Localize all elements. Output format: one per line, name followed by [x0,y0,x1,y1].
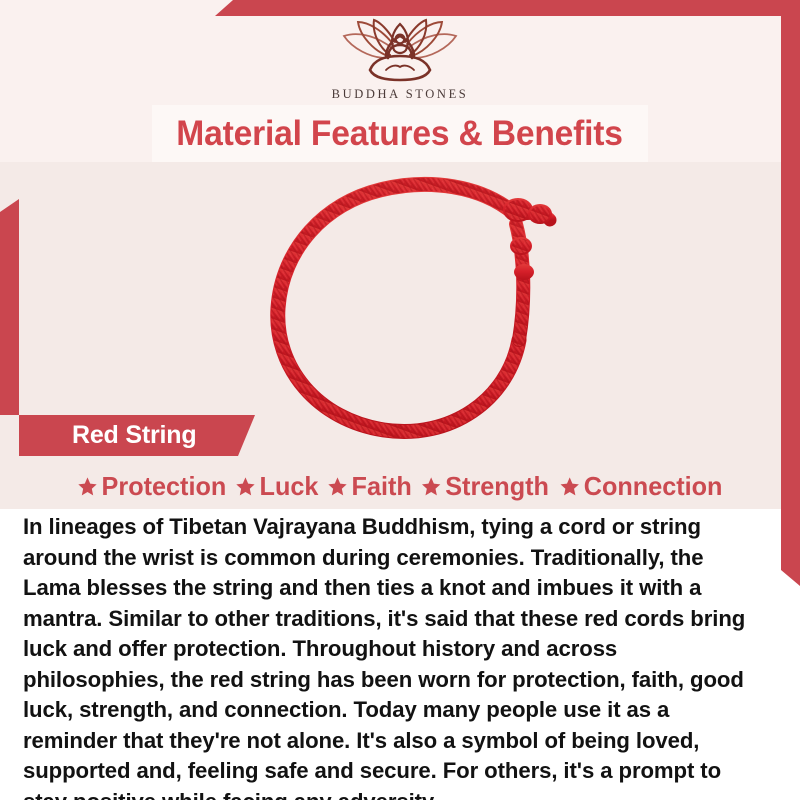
product-name-banner: Red String [19,415,255,456]
star-icon [77,476,97,497]
benefit-item-faith: Faith [327,471,411,502]
left-red-strip [0,199,19,415]
lotus-meditation-icon [330,18,470,84]
benefit-item-protection: Protection [77,471,226,502]
benefit-label: Protection [101,471,226,502]
product-image [268,168,568,444]
star-icon [421,476,441,497]
benefits-row: Protection Luck Faith Strength Connectio… [19,466,781,506]
benefit-label: Faith [352,471,412,502]
page-title: Material Features & Benefits [177,114,624,154]
benefit-label: Luck [260,471,319,502]
infographic-page: BUDDHA STONES Material Features & Benefi… [0,0,800,800]
star-icon [236,476,256,497]
benefit-label: Connection [584,471,723,502]
brand-logo: BUDDHA STONES [0,18,800,102]
star-icon [327,476,347,497]
benefit-item-luck: Luck [236,471,319,502]
brand-name: BUDDHA STONES [332,87,469,102]
star-icon [560,476,580,497]
benefit-item-strength: Strength [421,471,549,502]
top-red-ribbon [215,0,800,16]
title-plate: Material Features & Benefits [152,105,648,162]
benefit-item-connection: Connection [560,471,723,502]
product-name-label: Red String [72,421,196,450]
description-paragraph: In lineages of Tibetan Vajrayana Buddhis… [23,512,764,800]
benefit-label: Strength [445,471,549,502]
